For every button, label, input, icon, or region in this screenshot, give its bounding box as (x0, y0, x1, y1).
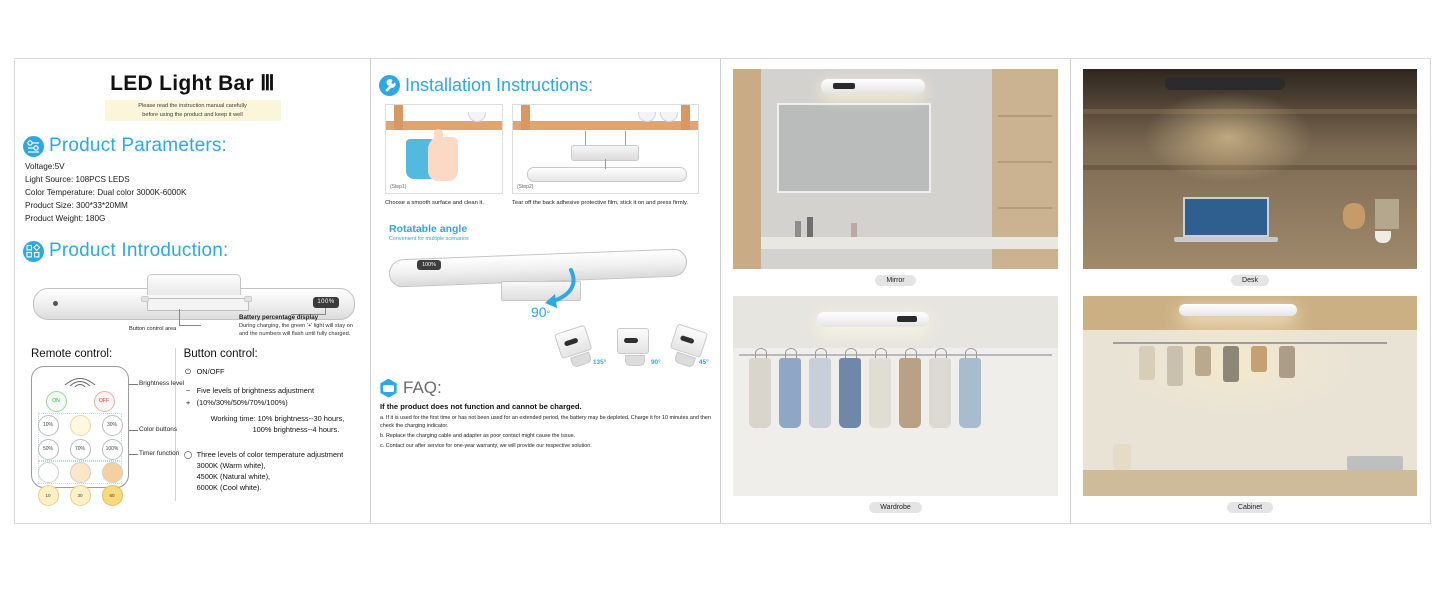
onoff-label: ON/OFF (197, 366, 225, 377)
panel-specifications: LED Light Bar Ⅲ Please read the instruct… (15, 59, 371, 523)
light-glow (1143, 91, 1313, 183)
angle-label-135: 135° (593, 359, 606, 366)
light-bar-in-scene (821, 79, 925, 94)
timer-function-label: Timer function (139, 450, 179, 457)
step-2-caption: Tear off the back adhesive protective fi… (512, 199, 699, 207)
bottle-graphic (807, 217, 813, 237)
faq-answer: c. Contact our after service for one-yea… (380, 442, 712, 450)
color-warm-white-button[interactable] (102, 462, 123, 483)
scene-photo-mirror (733, 69, 1058, 269)
timer-30-button[interactable]: 30 (70, 485, 91, 506)
angle-variants: 135° 90° 45° (559, 320, 711, 366)
books-graphic (1375, 199, 1399, 229)
color-cool-white-button[interactable] (38, 462, 59, 483)
cup-graphic (1375, 231, 1391, 243)
timer-60-button[interactable]: 60 (102, 485, 123, 506)
button-control-block: Button control: ⏻ ON/OFF −+ Five levels … (175, 348, 370, 501)
spec-item: Product Weight: 180G (25, 213, 370, 226)
shelf-side-graphic (681, 105, 690, 130)
step-1: (Step1) Choose a smooth surface and clea… (385, 104, 503, 207)
circle-icon: ◯ (184, 449, 193, 493)
lamp-detail (833, 83, 855, 89)
main-angle-label: 90° (531, 304, 550, 320)
garment-graphic (749, 358, 771, 428)
laptop-base (1174, 237, 1278, 242)
bottle-graphic (795, 221, 801, 237)
color-natural-white-button[interactable] (70, 462, 91, 483)
garment-graphic (899, 358, 921, 428)
scene-caption-wardrobe: Wardrobe (869, 502, 921, 513)
hanger-icon (935, 348, 947, 358)
battery-caption-title: Battery percentage display (239, 314, 359, 321)
faq-question: If the product does not function and can… (380, 402, 720, 411)
spec-item: Light Source: 108PCS LEDS (25, 174, 370, 187)
mirror-graphic (777, 103, 931, 193)
faq-label: FAQ: (403, 378, 442, 398)
scene-photo-wardrobe (733, 296, 1058, 496)
grid-shapes-icon (23, 241, 44, 262)
garment-graphic (869, 358, 891, 428)
shelf-line (998, 207, 1052, 209)
brightness-level-label: Brightness level (139, 380, 184, 387)
mini-lamp-led (624, 338, 638, 343)
step-1-caption: Choose a smooth surface and clean it. (385, 199, 503, 207)
light-bar-in-scene (1165, 77, 1285, 90)
spec-item: Voltage:5V (25, 161, 370, 174)
laptop-graphic (1183, 197, 1269, 245)
shelf-line (998, 115, 1052, 117)
product-parameters-heading: Product Parameters: (23, 135, 370, 157)
light-bar-mount (147, 274, 241, 295)
spec-list: Voltage:5V Light Source: 108PCS LEDS Col… (25, 161, 370, 226)
utensil-graphic (1195, 346, 1211, 376)
infographic-sheet: LED Light Bar Ⅲ Please read the instruct… (14, 58, 1431, 524)
working-time-line1: Working time: 10% brightness--30 hours, (211, 413, 345, 424)
controls-section: Remote control: ON OFF 1 (15, 348, 370, 501)
onoff-item: ⏻ ON/OFF (184, 366, 370, 377)
color-temp-title: Three levels of color temperature adjust… (197, 450, 344, 459)
power-icon: ⏻ (184, 366, 193, 377)
utensil-graphic (1139, 346, 1155, 380)
brightness-10-button[interactable]: 10% (38, 415, 59, 436)
brightness-item: −+ Five levels of brightness adjustment … (184, 385, 370, 434)
hanger-icon (905, 348, 917, 358)
remote-on-button[interactable]: ON (46, 391, 67, 412)
product-introduction-label: Product Introduction: (49, 240, 229, 262)
utensil-rod-graphic (1113, 342, 1387, 344)
leader-line (179, 325, 201, 326)
brightness-100-button[interactable]: 100% (102, 439, 123, 460)
mini-lamp-led (564, 338, 579, 347)
scene-photo-desk (1083, 69, 1417, 269)
faq-answer: b. Replace the charging cable and adapte… (380, 432, 712, 440)
hanger-icon (785, 348, 797, 358)
product-diagram: 100% Button control area Battery percent… (29, 270, 359, 332)
counter-graphic (761, 237, 1058, 249)
color-temp-line: 4500K (Natural white), (197, 471, 344, 482)
rotatable-angle-subtitle: Convenient for multiple scenarios (389, 236, 720, 242)
remote-control-heading: Remote control: (31, 348, 175, 360)
wrench-icon (379, 75, 400, 96)
button-control-heading: Button control: (184, 348, 370, 360)
mini-lamp-base (625, 355, 645, 366)
garment-graphic (809, 358, 831, 428)
brightness-indicator (70, 415, 91, 436)
rotation-display-value: 100% (417, 260, 441, 270)
step-1-tag: (Step1) (390, 184, 406, 190)
panel-scenes-right: Desk (1071, 59, 1429, 523)
signal-waves-icon (62, 374, 98, 387)
scene-photo-cabinet (1083, 296, 1417, 496)
screw-icon (141, 296, 149, 302)
angle-label-45: 45° (699, 359, 709, 366)
color-temp-line: 3000K (Warm white), (197, 460, 344, 471)
garment-graphic (839, 358, 861, 428)
utensil-graphic (1167, 346, 1183, 386)
angle-variant-90 (617, 328, 653, 366)
shelf-side-graphic (521, 105, 530, 130)
button-control-area-region (147, 298, 249, 311)
battery-display: 100% (313, 297, 339, 308)
button-area-caption: Button control area (129, 326, 176, 332)
product-infographic: LED Light Bar Ⅲ Please read the instruct… (0, 0, 1445, 592)
counter-graphic (1083, 470, 1417, 496)
installation-steps: (Step1) Choose a smooth surface and clea… (385, 104, 720, 207)
mini-lamp-led (680, 335, 695, 344)
light-bar-graphic (527, 167, 687, 182)
title-note-line1: Please read the instruction manual caref… (107, 102, 279, 111)
light-bar-in-scene (1179, 304, 1297, 316)
hanger-icon (965, 348, 977, 358)
arrow-line (625, 131, 626, 145)
shelf-line (998, 161, 1052, 163)
garment-graphic (929, 358, 951, 428)
scene-caption-cabinet: Cabinet (1227, 502, 1273, 513)
brightness-values: (10%/30%/50%/70%/100%) (197, 398, 288, 407)
leader-line (179, 309, 180, 325)
remote-off-button[interactable]: OFF (94, 391, 115, 412)
spec-item: Product Size: 300*33*20MM (25, 200, 370, 213)
scene-card-desk: Desk (1083, 69, 1417, 286)
installation-heading: Installation Instructions: (379, 75, 720, 96)
angle-label-90: 90° (651, 359, 661, 366)
hanger-icon (755, 348, 767, 358)
garment-graphic (779, 358, 801, 428)
shelf-graphic (513, 121, 698, 130)
faq-heading: FAQ: (379, 378, 720, 398)
scene-card-wardrobe: Wardrobe (733, 296, 1058, 513)
remote-control-device: ON OFF 10% 30% 50% 70% 100% (31, 366, 129, 488)
step-2-tag: (Step2) (517, 184, 533, 190)
teddy-bear-graphic (1343, 203, 1365, 229)
brightness-row-2: 50% 70% 100% (32, 439, 128, 460)
product-parameters-label: Product Parameters: (49, 135, 227, 157)
battery-caption-body: During charging, the green '+' light wil… (239, 323, 353, 337)
brightness-title: Five levels of brightness adjustment (197, 386, 315, 395)
laptop-screen (1183, 197, 1269, 237)
scene-caption-desk: Desk (1231, 275, 1269, 286)
spec-item: Color Temperature: Dual color 3000K-6000… (25, 187, 370, 200)
step-2: (Step2) Tear off the back adhesive prote… (512, 104, 699, 207)
jar-graphic (1113, 444, 1131, 470)
hanger-icon (845, 348, 857, 358)
hanger-icon (815, 348, 827, 358)
timer-row: 10 30 60 (32, 485, 128, 506)
step-2-image: (Step2) (512, 104, 699, 194)
rotation-diagram: 100% 90° 135° (381, 248, 711, 366)
brightness-70-button[interactable]: 70% (70, 439, 91, 460)
utensil-graphic (1251, 346, 1267, 372)
color-buttons-label: Color buttons (139, 426, 177, 433)
scene-caption-mirror: Mirror (875, 275, 915, 286)
installation-label: Installation Instructions: (405, 75, 593, 96)
mini-lamp-graphic (617, 328, 649, 354)
hand-graphic (428, 137, 458, 181)
garment-graphic (959, 358, 981, 428)
working-time-line2: 100% brightness--4 hours. (253, 424, 345, 435)
rotatable-angle-title: Rotatable angle (389, 223, 720, 235)
panel-scenes-left: Mirror (721, 59, 1071, 523)
speech-bubble-icon (379, 379, 398, 398)
faq-answer: a. If it is used for the first time or h… (380, 414, 712, 430)
lamp-detail (897, 316, 917, 322)
shelf-side-graphic (394, 105, 403, 130)
wood-panel-graphic (733, 69, 761, 269)
product-introduction-heading: Product Introduction: (23, 240, 370, 262)
scene-card-cabinet: Cabinet (1083, 296, 1417, 513)
title-note: Please read the instruction manual caref… (105, 100, 281, 121)
battery-caption: Battery percentage display During chargi… (239, 314, 359, 338)
screw-icon (244, 296, 252, 302)
arrow-line (585, 131, 586, 145)
arrow-line (605, 159, 606, 169)
utensil-graphic (1223, 346, 1239, 382)
scene-column-right: Desk (1071, 59, 1429, 523)
power-row: ON OFF (32, 391, 128, 412)
color-row (32, 462, 128, 483)
shelf-graphic (386, 121, 502, 130)
brightness-30-button[interactable]: 30% (102, 415, 123, 436)
remote-control-block: Remote control: ON OFF 1 (15, 348, 175, 501)
color-temp-item: ◯ Three levels of color temperature adju… (184, 449, 370, 493)
hanger-icon (875, 348, 887, 358)
title-note-line2: before using the product and keep it wel… (107, 111, 279, 120)
step-1-image: (Step1) (385, 104, 503, 194)
panel-installation: Installation Instructions: (Step1) Choos… (371, 59, 721, 523)
color-temp-line: 6000K (Cool white). (197, 482, 344, 493)
utensil-graphic (1279, 346, 1295, 378)
brightness-50-button[interactable]: 50% (38, 439, 59, 460)
finger-graphic (434, 129, 443, 145)
bottle-graphic (851, 223, 857, 237)
scene-card-mirror: Mirror (733, 69, 1058, 286)
scene-column-left: Mirror (721, 59, 1070, 523)
sink-graphic (1347, 456, 1403, 470)
page-title: LED Light Bar Ⅲ (15, 71, 370, 96)
timer-10-button[interactable]: 10 (38, 485, 59, 506)
light-bar-in-scene (817, 312, 929, 327)
plus-minus-icon: −+ (184, 385, 193, 434)
settings-sliders-icon (23, 136, 44, 157)
brightness-row-1: 10% 30% (32, 415, 128, 436)
